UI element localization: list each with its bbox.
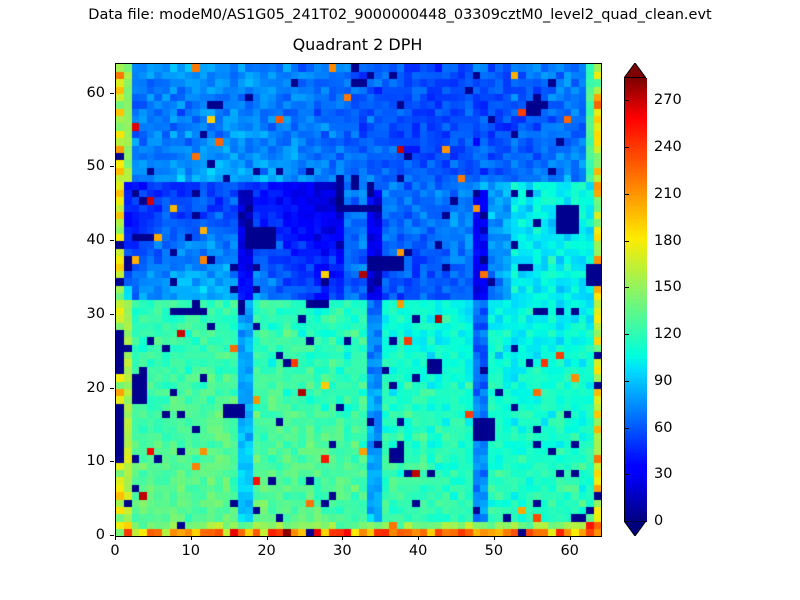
colorbar-tick-mark xyxy=(624,147,629,148)
y-tick-mark xyxy=(110,166,114,167)
x-tick-label: 10 xyxy=(182,543,200,559)
y-tick-label: 0 xyxy=(67,527,105,543)
x-tick-label: 20 xyxy=(257,543,275,559)
y-tick-mark xyxy=(110,240,114,241)
colorbar-tick-label: 60 xyxy=(654,420,672,436)
colorbar-tick-mark xyxy=(624,334,629,335)
y-tick-label: 40 xyxy=(67,232,105,248)
x-tick-label: 30 xyxy=(333,543,351,559)
colorbar-tick-mark xyxy=(624,287,629,288)
colorbar-tick-label: 240 xyxy=(654,139,682,155)
x-tick-mark xyxy=(342,536,343,540)
x-tick-mark xyxy=(267,536,268,540)
colorbar-tick-mark xyxy=(624,241,629,242)
colorbar-tick-label: 150 xyxy=(654,279,682,295)
matplotlib-figure: Data file: modeM0/AS1G05_241T02_90000004… xyxy=(0,0,800,600)
colorbar-gradient-canvas xyxy=(625,78,647,522)
colorbar-tick-label: 120 xyxy=(654,326,682,342)
colorbar-tick-label: 90 xyxy=(654,373,672,389)
colorbar-tick-mark xyxy=(624,381,629,382)
y-tick-mark xyxy=(110,461,114,462)
colorbar-tick-mark xyxy=(624,100,629,101)
y-tick-label: 60 xyxy=(67,85,105,101)
colorbar-tick-label: 180 xyxy=(654,233,682,249)
y-tick-label: 30 xyxy=(67,306,105,322)
axes-title: Quadrant 2 DPH xyxy=(115,35,600,54)
y-tick-label: 20 xyxy=(67,380,105,396)
colorbar-tick-label: 0 xyxy=(654,513,663,529)
colorbar-tick-mark xyxy=(624,194,629,195)
y-tick-mark xyxy=(110,314,114,315)
colorbar-tick-label: 210 xyxy=(654,186,682,202)
y-tick-label: 10 xyxy=(67,453,105,469)
x-tick-label: 50 xyxy=(485,543,503,559)
colorbar-gradient xyxy=(624,77,646,521)
x-tick-mark xyxy=(418,536,419,540)
x-tick-label: 0 xyxy=(110,543,119,559)
x-tick-mark xyxy=(115,536,116,540)
colorbar-under-arrow-icon xyxy=(624,521,646,536)
data-file-suptitle: Data file: modeM0/AS1G05_241T02_90000004… xyxy=(0,7,800,23)
y-tick-mark xyxy=(110,535,114,536)
y-tick-label: 50 xyxy=(67,158,105,174)
detector-heatmap-image xyxy=(116,64,601,536)
colorbar-tick-label: 270 xyxy=(654,92,682,108)
colorbar-over-arrow-icon xyxy=(624,63,646,78)
x-tick-mark xyxy=(191,536,192,540)
heatmap-axes xyxy=(115,63,602,537)
colorbar xyxy=(624,63,646,535)
colorbar-tick-label: 30 xyxy=(654,466,672,482)
x-tick-mark xyxy=(494,536,495,540)
y-tick-mark xyxy=(110,388,114,389)
x-tick-mark xyxy=(570,536,571,540)
x-tick-label: 60 xyxy=(560,543,578,559)
colorbar-tick-mark xyxy=(624,521,629,522)
colorbar-tick-mark xyxy=(624,474,629,475)
y-tick-mark xyxy=(110,93,114,94)
x-tick-label: 40 xyxy=(409,543,427,559)
colorbar-tick-mark xyxy=(624,428,629,429)
